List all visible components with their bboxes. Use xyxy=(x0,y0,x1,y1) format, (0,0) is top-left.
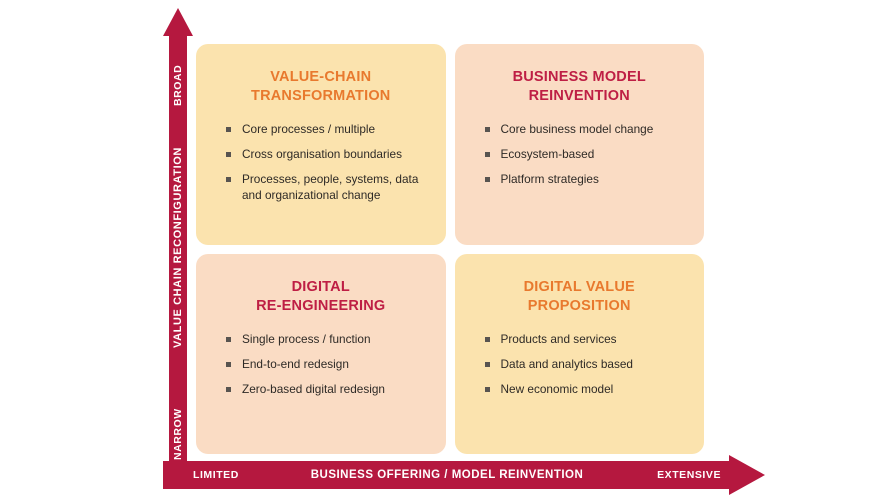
quadrant-bullet-list: Core processes / multiple Cross organisa… xyxy=(212,122,430,204)
list-item: Products and services xyxy=(485,332,689,348)
y-axis: BROAD VALUE CHAIN RECONFIGURATION NARROW xyxy=(163,8,193,479)
matrix-grid: VALUE-CHAIN TRANSFORMATION Core processe… xyxy=(196,44,704,454)
list-item: End-to-end redesign xyxy=(226,357,430,373)
list-item: Zero-based digital redesign xyxy=(226,382,430,398)
list-item: Processes, people, systems, data and org… xyxy=(226,172,430,204)
quadrant-title: DIGITAL VALUE PROPOSITION xyxy=(471,278,689,316)
x-axis-title: BUSINESS OFFERING / MODEL REINVENTION xyxy=(163,461,731,489)
list-item: New economic model xyxy=(485,382,689,398)
quadrant-bullet-list: Single process / function End-to-end red… xyxy=(212,332,430,398)
y-axis-title: VALUE CHAIN RECONFIGURATION xyxy=(169,148,187,348)
quadrant-title: VALUE-CHAIN TRANSFORMATION xyxy=(212,68,430,106)
list-item: Ecosystem-based xyxy=(485,147,689,163)
quadrant-digital-value-proposition[interactable]: DIGITAL VALUE PROPOSITION Products and s… xyxy=(455,254,705,455)
quadrant-bullet-list: Products and services Data and analytics… xyxy=(471,332,689,398)
quadrant-business-model-reinvention[interactable]: BUSINESS MODEL REINVENTION Core business… xyxy=(455,44,705,245)
list-item: Platform strategies xyxy=(485,172,689,188)
x-axis: LIMITED EXTENSIVE BUSINESS OFFERING / MO… xyxy=(163,455,766,495)
quadrant-value-chain-transformation[interactable]: VALUE-CHAIN TRANSFORMATION Core processe… xyxy=(196,44,446,245)
x-axis-arrowhead-icon xyxy=(729,455,765,495)
diagram-canvas: BROAD VALUE CHAIN RECONFIGURATION NARROW… xyxy=(0,0,886,495)
list-item: Data and analytics based xyxy=(485,357,689,373)
quadrant-bullet-list: Core business model change Ecosystem-bas… xyxy=(471,122,689,188)
quadrant-title: DIGITAL RE-ENGINEERING xyxy=(212,278,430,316)
list-item: Core business model change xyxy=(485,122,689,138)
quadrant-digital-re-engineering[interactable]: DIGITAL RE-ENGINEERING Single process / … xyxy=(196,254,446,455)
y-axis-high-label: BROAD xyxy=(169,50,187,120)
list-item: Core processes / multiple xyxy=(226,122,430,138)
y-axis-arrowhead-icon xyxy=(163,8,193,36)
list-item: Cross organisation boundaries xyxy=(226,147,430,163)
list-item: Single process / function xyxy=(226,332,430,348)
quadrant-title: BUSINESS MODEL REINVENTION xyxy=(471,68,689,106)
